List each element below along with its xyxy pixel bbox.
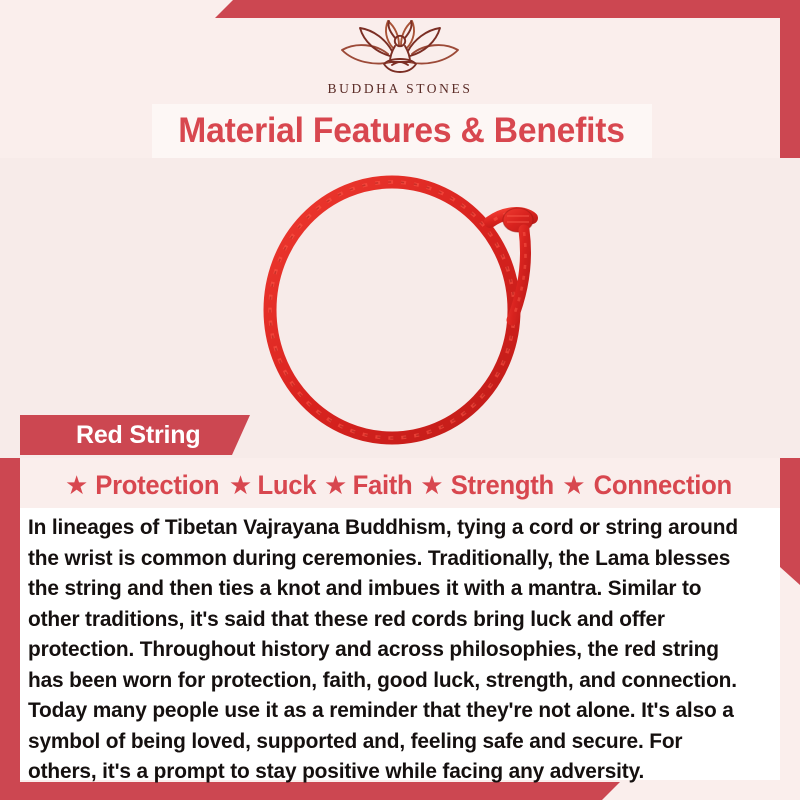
benefit-tag: ★ Connection xyxy=(562,470,735,501)
product-label-banner: Red String xyxy=(20,415,250,455)
star-icon: ★ xyxy=(420,472,443,498)
brand-wordmark: BUDDHA STONES xyxy=(328,81,473,97)
decoration-top-bar xyxy=(215,0,800,18)
benefit-tag: ★ Luck xyxy=(229,470,318,501)
red-string-bracelet-image xyxy=(232,160,582,450)
star-icon: ★ xyxy=(229,472,252,498)
benefit-tag: ★ Faith xyxy=(324,470,414,501)
title-banner: Material Features & Benefits xyxy=(152,104,652,158)
benefit-tag: ★ Protection xyxy=(65,470,223,501)
star-icon: ★ xyxy=(324,472,347,498)
page-title: Material Features & Benefits xyxy=(179,111,626,151)
benefit-label-protection: Protection xyxy=(96,470,220,501)
product-image-band xyxy=(0,158,800,458)
benefit-label-strength: Strength xyxy=(450,470,553,501)
product-label: Red String xyxy=(20,421,200,450)
description-text: In lineages of Tibetan Vajrayana Buddhis… xyxy=(28,512,750,787)
description-panel: In lineages of Tibetan Vajrayana Buddhis… xyxy=(20,508,780,780)
star-icon: ★ xyxy=(562,472,585,498)
star-icon: ★ xyxy=(65,472,88,498)
benefit-label-luck: Luck xyxy=(258,470,317,501)
brand-header: BUDDHA STONES xyxy=(0,18,800,102)
benefit-tags-row: ★ Protection ★ Luck ★ Faith ★ Strength ★… xyxy=(20,464,780,506)
benefit-label-faith: Faith xyxy=(353,470,413,501)
lotus-meditation-icon xyxy=(334,18,466,80)
infographic-page: BUDDHA STONES Material Features & Benefi… xyxy=(0,0,800,800)
benefit-tag: ★ Strength xyxy=(420,470,556,501)
benefit-label-connection: Connection xyxy=(593,470,731,501)
